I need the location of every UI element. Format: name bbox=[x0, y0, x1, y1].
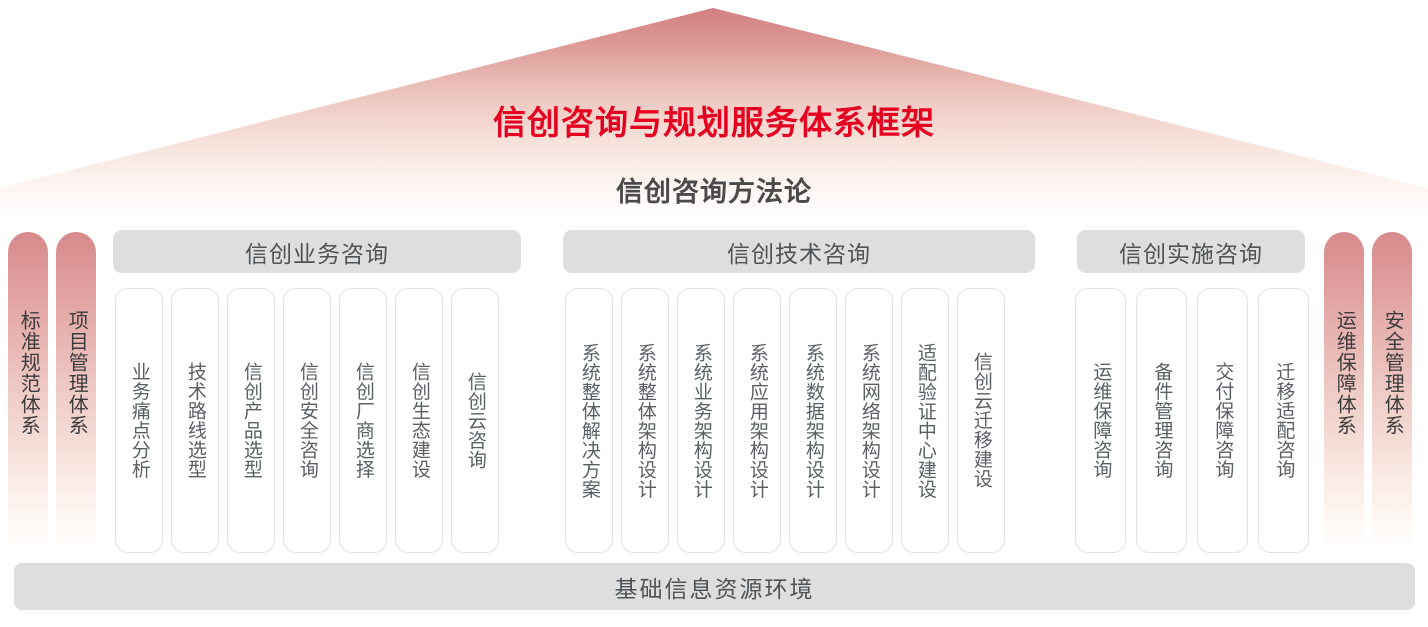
base-infrastructure-bar[interactable]: 基础信息资源环境 bbox=[14, 563, 1415, 610]
group-implementation-consulting: 信创实施咨询 运维保障咨询 备件管理咨询 交付保障咨询 迁移适配咨询 bbox=[1077, 230, 1305, 273]
pillar-project-management[interactable]: 项目管理体系 bbox=[56, 232, 96, 552]
item-card[interactable]: 系统业务架构设计 bbox=[677, 288, 725, 553]
item-label: 适配验证中心建设 bbox=[914, 343, 936, 499]
item-card[interactable]: 系统数据架构设计 bbox=[789, 288, 837, 553]
item-label: 信创产品选型 bbox=[240, 362, 262, 479]
page-subtitle: 信创咨询方法论 bbox=[0, 170, 1428, 209]
item-card[interactable]: 交付保障咨询 bbox=[1197, 288, 1248, 553]
item-label: 迁移适配咨询 bbox=[1273, 362, 1295, 479]
item-label: 交付保障咨询 bbox=[1212, 362, 1234, 479]
item-label: 系统应用架构设计 bbox=[746, 343, 768, 499]
pillar-label: 标准规范体系 bbox=[17, 310, 39, 436]
item-card[interactable]: 信创厂商选择 bbox=[339, 288, 387, 553]
item-card[interactable]: 系统整体解决方案 bbox=[565, 288, 613, 553]
framework-diagram: 信创咨询与规划服务体系框架 信创咨询方法论 标准规范体系 项目管理体系 运维保障… bbox=[0, 0, 1428, 627]
item-label: 信创云咨询 bbox=[464, 372, 486, 470]
pillar-security-management[interactable]: 安全管理体系 bbox=[1372, 232, 1412, 552]
item-card[interactable]: 信创生态建设 bbox=[395, 288, 443, 553]
group-header[interactable]: 信创实施咨询 bbox=[1077, 230, 1305, 273]
item-label: 系统业务架构设计 bbox=[690, 343, 712, 499]
pillar-operation-maintenance[interactable]: 运维保障体系 bbox=[1324, 232, 1364, 552]
item-card[interactable]: 适配验证中心建设 bbox=[901, 288, 949, 553]
item-label: 业务痛点分析 bbox=[128, 362, 150, 479]
group-item-list: 运维保障咨询 备件管理咨询 交付保障咨询 迁移适配咨询 bbox=[1075, 288, 1309, 553]
item-label: 系统网络架构设计 bbox=[858, 343, 880, 499]
pillar-standard-specification[interactable]: 标准规范体系 bbox=[8, 232, 48, 552]
item-card[interactable]: 业务痛点分析 bbox=[115, 288, 163, 553]
item-label: 信创厂商选择 bbox=[352, 362, 374, 479]
item-label: 系统整体解决方案 bbox=[578, 343, 600, 499]
group-header[interactable]: 信创业务咨询 bbox=[113, 230, 521, 273]
item-card[interactable]: 系统整体架构设计 bbox=[621, 288, 669, 553]
group-business-consulting: 信创业务咨询 业务痛点分析 技术路线选型 信创产品选型 信创安全咨询 信创厂商选… bbox=[113, 230, 521, 273]
item-label: 信创安全咨询 bbox=[296, 362, 318, 479]
item-card[interactable]: 技术路线选型 bbox=[171, 288, 219, 553]
group-item-list: 系统整体解决方案 系统整体架构设计 系统业务架构设计 系统应用架构设计 系统数据… bbox=[565, 288, 1005, 553]
item-label: 信创生态建设 bbox=[408, 362, 430, 479]
item-label: 运维保障咨询 bbox=[1090, 362, 1112, 479]
item-card[interactable]: 运维保障咨询 bbox=[1075, 288, 1126, 553]
item-card[interactable]: 迁移适配咨询 bbox=[1258, 288, 1309, 553]
item-label: 备件管理咨询 bbox=[1151, 362, 1173, 479]
item-label: 系统整体架构设计 bbox=[634, 343, 656, 499]
pillar-label: 安全管理体系 bbox=[1381, 310, 1403, 436]
item-label: 技术路线选型 bbox=[184, 362, 206, 479]
item-card[interactable]: 系统应用架构设计 bbox=[733, 288, 781, 553]
item-card[interactable]: 信创云咨询 bbox=[451, 288, 499, 553]
group-header[interactable]: 信创技术咨询 bbox=[563, 230, 1035, 273]
item-label: 信创云迁移建设 bbox=[970, 352, 992, 489]
group-item-list: 业务痛点分析 技术路线选型 信创产品选型 信创安全咨询 信创厂商选择 信创生态建… bbox=[115, 288, 499, 553]
base-label: 基础信息资源环境 bbox=[615, 570, 815, 604]
group-technology-consulting: 信创技术咨询 系统整体解决方案 系统整体架构设计 系统业务架构设计 系统应用架构… bbox=[563, 230, 1035, 273]
item-card[interactable]: 信创云迁移建设 bbox=[957, 288, 1005, 553]
item-card[interactable]: 备件管理咨询 bbox=[1136, 288, 1187, 553]
item-label: 系统数据架构设计 bbox=[802, 343, 824, 499]
page-title: 信创咨询与规划服务体系框架 bbox=[0, 96, 1428, 144]
item-card[interactable]: 信创安全咨询 bbox=[283, 288, 331, 553]
pillar-label: 运维保障体系 bbox=[1333, 310, 1355, 436]
pillar-label: 项目管理体系 bbox=[65, 310, 87, 436]
item-card[interactable]: 信创产品选型 bbox=[227, 288, 275, 553]
item-card[interactable]: 系统网络架构设计 bbox=[845, 288, 893, 553]
